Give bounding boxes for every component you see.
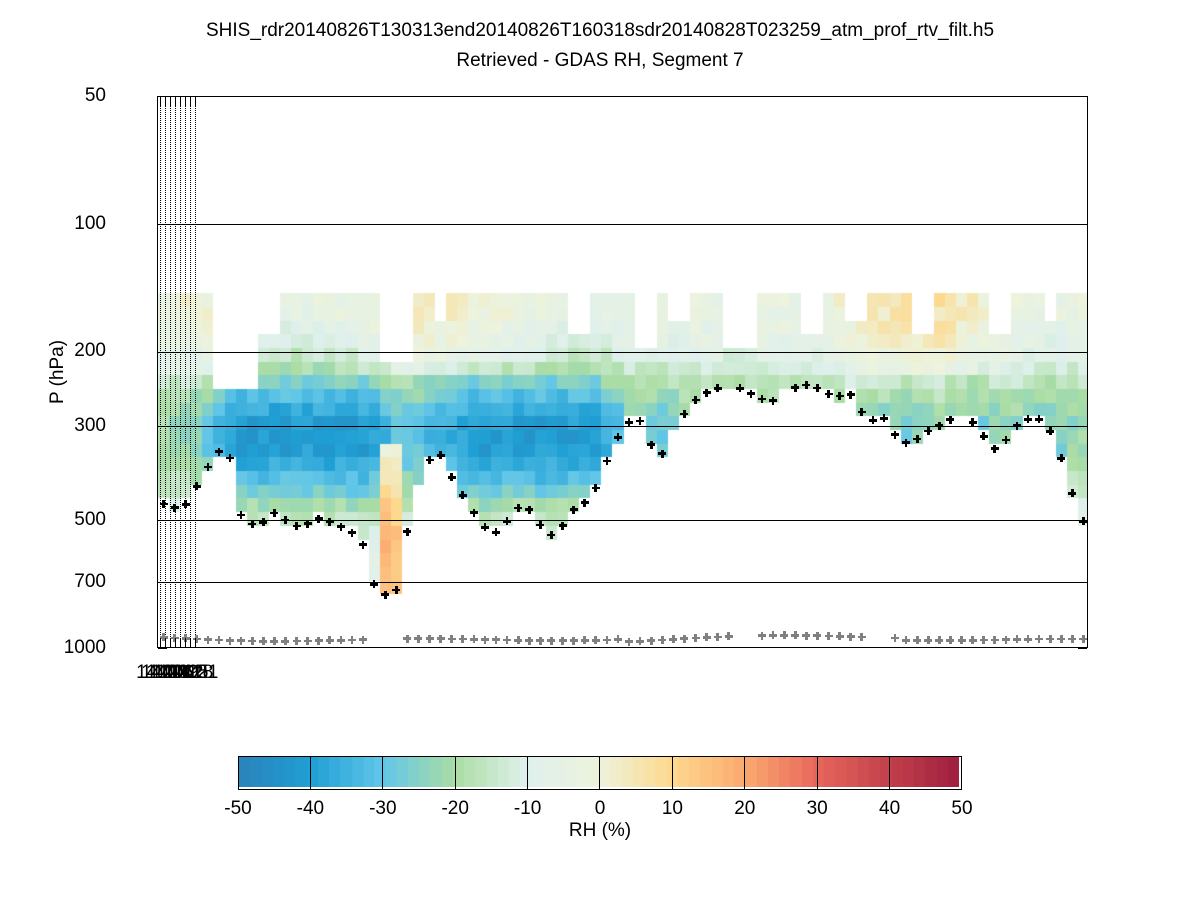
colorbar-tick xyxy=(310,756,311,790)
x-tick xyxy=(195,638,196,647)
x-tick xyxy=(160,97,161,106)
colorbar-tick-label: 30 xyxy=(807,798,828,820)
colorbar-tick-label: 0 xyxy=(595,798,606,820)
x-tick xyxy=(175,638,176,647)
y-tick xyxy=(158,520,167,521)
y-tick-label: 50 xyxy=(85,85,106,107)
colorbar-tick xyxy=(599,756,600,790)
y-tick-label: 500 xyxy=(74,509,106,531)
colorbar-tick-label: -10 xyxy=(514,798,541,820)
x-tick xyxy=(160,638,161,647)
y-tick xyxy=(1078,224,1087,225)
y-tick xyxy=(1078,582,1087,583)
title-line-2: Retrieved - GDAS RH, Segment 7 xyxy=(0,48,1200,74)
colorbar-tick xyxy=(527,756,528,790)
x-tick xyxy=(165,97,166,106)
y-tick-label: 100 xyxy=(74,213,106,235)
y-tick xyxy=(158,426,167,427)
y-tick xyxy=(1078,352,1087,353)
colorbar-tick-label: -40 xyxy=(297,798,324,820)
figure-title: SHIS_rdr20140826T130313end20140826T16031… xyxy=(0,18,1200,74)
x-tick xyxy=(190,97,191,106)
x-tick xyxy=(180,638,181,647)
x-tick xyxy=(180,97,181,106)
colorbar-tick-label: -30 xyxy=(369,798,396,820)
heatmap-layer xyxy=(158,97,1087,647)
y-tick xyxy=(1078,520,1087,521)
x-tick-label: 14:21 xyxy=(171,662,219,684)
colorbar-tick xyxy=(744,756,745,790)
colorbar-tick xyxy=(817,756,818,790)
colorbar-tick-label: 50 xyxy=(951,798,972,820)
y-tick-label: 200 xyxy=(74,340,106,362)
x-tick xyxy=(175,97,176,106)
x-tick xyxy=(190,638,191,647)
y-tick-label: 1000 xyxy=(64,637,106,659)
y-tick xyxy=(1078,648,1087,649)
x-tick xyxy=(170,97,171,106)
y-tick xyxy=(158,648,167,649)
colorbar-tick xyxy=(672,756,673,790)
colorbar-tick xyxy=(889,756,890,790)
title-line-1: SHIS_rdr20140826T130313end20140826T16031… xyxy=(0,18,1200,44)
x-tick xyxy=(165,638,166,647)
colorbar-tick xyxy=(455,756,456,790)
colorbar-tick xyxy=(382,756,383,790)
y-tick-label: 300 xyxy=(74,415,106,437)
x-tick xyxy=(185,638,186,647)
colorbar-tick-label: -20 xyxy=(441,798,468,820)
y-tick xyxy=(1078,426,1087,427)
y-tick xyxy=(1078,96,1087,97)
y-tick xyxy=(158,582,167,583)
x-tick xyxy=(185,97,186,106)
plot-area xyxy=(157,96,1088,648)
y-tick-label: 700 xyxy=(74,571,106,593)
colorbar-tick-label: 40 xyxy=(879,798,900,820)
y-axis-title: P (hPa) xyxy=(47,340,69,404)
colorbar-tick-label: 20 xyxy=(734,798,755,820)
x-tick xyxy=(170,638,171,647)
y-tick xyxy=(158,352,167,353)
colorbar-tick-label: 10 xyxy=(662,798,683,820)
figure-root: SHIS_rdr20140826T130313end20140826T16031… xyxy=(0,0,1200,900)
y-tick xyxy=(158,224,167,225)
x-tick xyxy=(195,97,196,106)
colorbar-title: RH (%) xyxy=(569,820,631,842)
colorbar-tick-label: -50 xyxy=(224,798,251,820)
